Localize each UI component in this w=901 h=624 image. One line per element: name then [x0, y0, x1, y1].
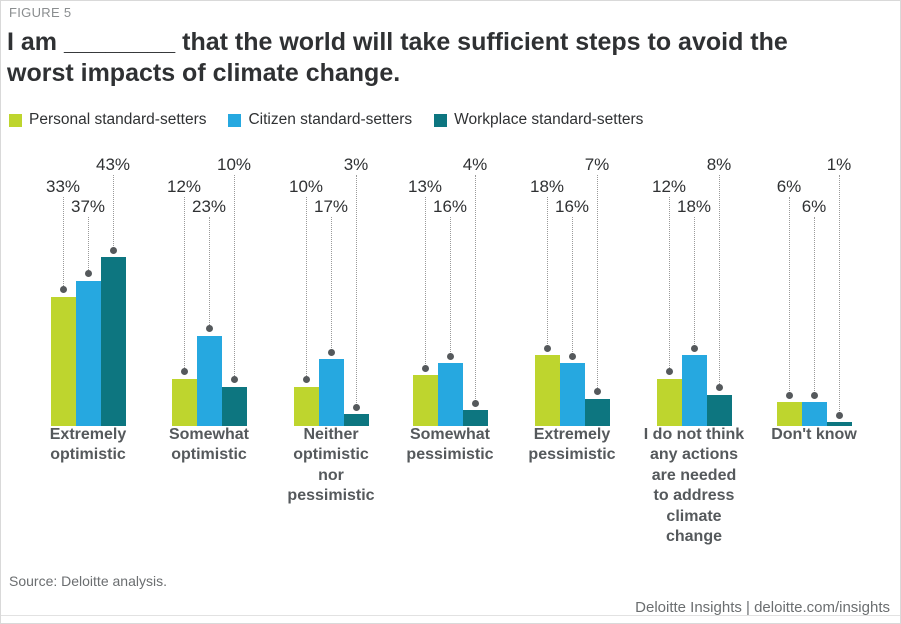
chart-group: 10%17%3% [271, 141, 391, 426]
bar-value-label: 7% [585, 155, 610, 175]
bar-value-label: 12% [167, 177, 201, 197]
category-label-line: climate [629, 507, 759, 527]
legend-swatch-icon [434, 114, 447, 127]
chart-bar[interactable] [413, 375, 438, 426]
value-leader-line [547, 197, 548, 348]
category-label-line: pessimistic [497, 445, 647, 465]
value-dot-marker [303, 376, 310, 383]
value-dot-marker [569, 353, 576, 360]
legend-item: Workplace standard-setters [434, 111, 643, 129]
category-label-line: pessimistic [256, 486, 406, 506]
category-label-line: change [629, 527, 759, 547]
chart-group: 12%23%10% [149, 141, 269, 426]
value-dot-marker [716, 384, 723, 391]
chart-bar[interactable] [560, 363, 585, 426]
chart-bar[interactable] [585, 399, 610, 426]
value-dot-marker [422, 365, 429, 372]
value-leader-line [356, 175, 357, 407]
bar-value-label: 16% [433, 197, 467, 217]
value-dot-marker [594, 388, 601, 395]
category-label: Extremelypessimistic [497, 425, 647, 466]
footer-divider [1, 615, 900, 616]
value-leader-line [572, 217, 573, 356]
bar-value-label: 8% [707, 155, 732, 175]
chart-group: 13%16%4% [390, 141, 510, 426]
value-dot-marker [811, 392, 818, 399]
value-dot-marker [110, 247, 117, 254]
value-dot-marker [231, 376, 238, 383]
value-leader-line [63, 197, 64, 290]
chart-bar[interactable] [101, 257, 126, 426]
value-leader-line [113, 175, 114, 250]
value-leader-line [184, 197, 185, 372]
bar-value-label: 10% [289, 177, 323, 197]
chart-legend: Personal standard-settersCitizen standar… [9, 111, 643, 129]
chart-bar[interactable] [51, 297, 76, 426]
legend-item: Personal standard-setters [9, 111, 206, 129]
value-leader-line [694, 217, 695, 348]
chart-bar[interactable] [682, 355, 707, 426]
page-title: I am ________ that the world will take s… [7, 27, 827, 89]
bar-value-label: 18% [530, 177, 564, 197]
value-dot-marker [666, 368, 673, 375]
category-label-line: to address [629, 486, 759, 506]
legend-item: Citizen standard-setters [228, 111, 412, 129]
chart-bar[interactable] [294, 387, 319, 426]
figure-container: FIGURE 5 I am ________ that the world wi… [0, 0, 901, 624]
value-leader-line [839, 175, 840, 415]
chart-bar[interactable] [172, 379, 197, 426]
legend-swatch-icon [228, 114, 241, 127]
chart-bar[interactable] [657, 379, 682, 426]
value-dot-marker [328, 349, 335, 356]
value-dot-marker [691, 345, 698, 352]
source-note: Source: Deloitte analysis. [9, 573, 167, 589]
legend-item-label: Workplace standard-setters [454, 111, 643, 129]
bar-value-label: 12% [652, 177, 686, 197]
chart-group: 6%6%1% [754, 141, 874, 426]
bar-value-label: 16% [555, 197, 589, 217]
value-leader-line [88, 217, 89, 274]
value-leader-line [669, 197, 670, 372]
bar-value-label: 37% [71, 197, 105, 217]
chart-bar[interactable] [535, 355, 560, 426]
value-leader-line [234, 175, 235, 380]
legend-item-label: Personal standard-setters [29, 111, 206, 129]
bar-value-label: 6% [777, 177, 802, 197]
value-leader-line [425, 197, 426, 368]
bar-value-label: 10% [217, 155, 251, 175]
value-dot-marker [447, 353, 454, 360]
value-dot-marker [836, 412, 843, 419]
category-label-line: are needed [629, 466, 759, 486]
bar-value-label: 6% [802, 197, 827, 217]
value-dot-marker [353, 404, 360, 411]
category-label-line: nor [256, 466, 406, 486]
value-leader-line [597, 175, 598, 392]
bar-value-label: 17% [314, 197, 348, 217]
legend-swatch-icon [9, 114, 22, 127]
chart-bar[interactable] [707, 395, 732, 426]
bar-value-label: 23% [192, 197, 226, 217]
value-leader-line [789, 197, 790, 395]
chart-bar[interactable] [777, 402, 802, 426]
chart-bar[interactable] [222, 387, 247, 426]
category-label-line: any actions [629, 445, 759, 465]
value-dot-marker [786, 392, 793, 399]
category-label-line: Extremely [497, 425, 647, 445]
value-leader-line [475, 175, 476, 403]
value-leader-line [306, 197, 307, 380]
bar-value-label: 43% [96, 155, 130, 175]
value-leader-line [209, 217, 210, 329]
value-leader-line [331, 217, 332, 352]
chart-bar[interactable] [463, 410, 488, 426]
bar-value-label: 3% [344, 155, 369, 175]
chart-bar[interactable] [438, 363, 463, 426]
figure-number-label: FIGURE 5 [9, 5, 71, 20]
bar-value-label: 33% [46, 177, 80, 197]
value-leader-line [450, 217, 451, 356]
brand-footer: Deloitte Insights | deloitte.com/insight… [635, 599, 890, 616]
value-dot-marker [472, 400, 479, 407]
bar-value-label: 13% [408, 177, 442, 197]
value-dot-marker [60, 286, 67, 293]
legend-item-label: Citizen standard-setters [248, 111, 412, 129]
chart-group: 18%16%7% [512, 141, 632, 426]
bar-value-label: 18% [677, 197, 711, 217]
chart-category-axis: ExtremelyoptimisticSomewhatoptimisticNei… [1, 425, 900, 555]
chart-group: 33%37%43% [28, 141, 148, 426]
chart-bar[interactable] [319, 359, 344, 426]
chart-group: 12%18%8% [634, 141, 754, 426]
value-leader-line [814, 217, 815, 395]
category-label-line: Don't know [739, 425, 889, 445]
chart-bar[interactable] [197, 336, 222, 426]
chart-plot-area: 33%37%43%12%23%10%10%17%3%13%16%4%18%16%… [1, 141, 900, 426]
chart-bar[interactable] [802, 402, 827, 426]
bar-value-label: 1% [827, 155, 852, 175]
chart-bar[interactable] [76, 281, 101, 426]
value-dot-marker [85, 270, 92, 277]
bar-value-label: 4% [463, 155, 488, 175]
value-leader-line [719, 175, 720, 388]
value-dot-marker [206, 325, 213, 332]
category-label: Don't know [739, 425, 889, 445]
value-dot-marker [544, 345, 551, 352]
value-dot-marker [181, 368, 188, 375]
